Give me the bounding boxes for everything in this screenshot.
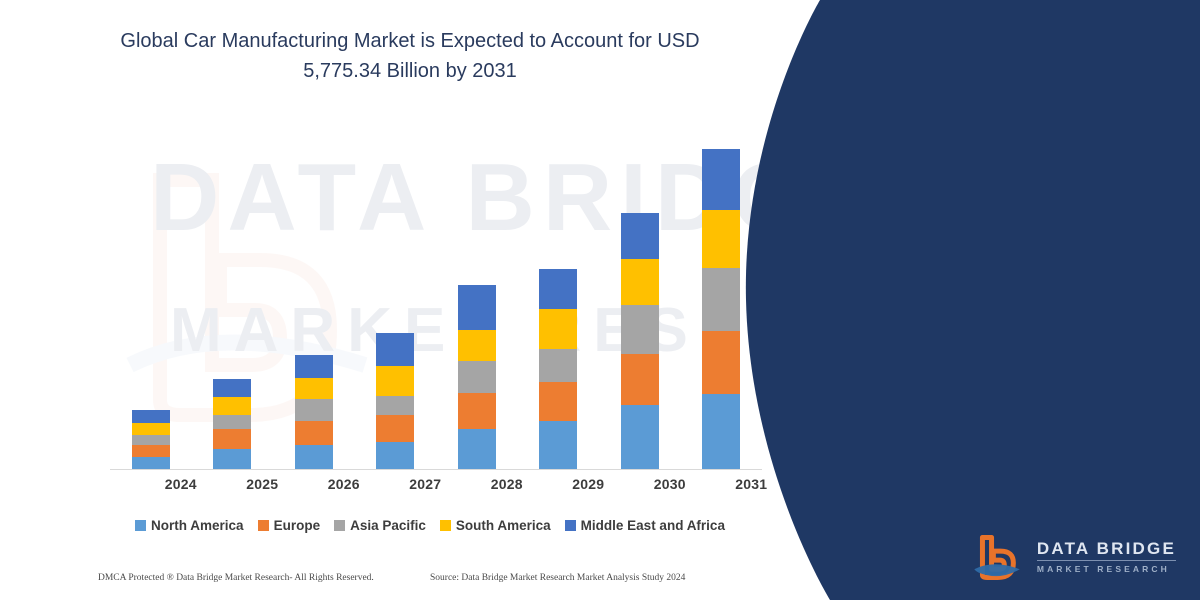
logo-line2: MARKET RESEARCH	[1037, 561, 1176, 574]
bar-segment	[213, 379, 251, 397]
bar-segment	[213, 415, 251, 428]
infographic-canvas: DATA BRIDGE MARKET RESEARCH Global Car M…	[0, 0, 1200, 600]
bar-segment	[295, 445, 333, 469]
bar-2025	[213, 379, 251, 469]
bar-segment	[458, 330, 496, 361]
x-axis-label: 2024	[162, 476, 200, 500]
bar-segment	[376, 366, 414, 397]
bar-segment	[539, 349, 577, 382]
x-axis-label: 2026	[325, 476, 363, 500]
bar-segment	[458, 285, 496, 330]
bar-segment	[702, 149, 740, 210]
bar-segment	[458, 429, 496, 469]
legend-swatch-icon	[135, 520, 146, 531]
chart-legend: North AmericaEuropeAsia PacificSouth Ame…	[80, 513, 780, 537]
bar-segment	[132, 435, 170, 445]
bar-segment	[702, 268, 740, 332]
bar-segment	[132, 410, 170, 422]
bar-segment	[702, 331, 740, 394]
bar-2024	[132, 410, 170, 469]
bar-segment	[376, 442, 414, 469]
bar-segment	[621, 305, 659, 355]
legend-item[interactable]: North America	[135, 518, 244, 533]
logo-text: DATA BRIDGE MARKET RESEARCH	[1037, 540, 1176, 574]
legend-label: North America	[151, 518, 244, 533]
bar-2027	[376, 333, 414, 469]
bar-segment	[295, 421, 333, 445]
x-axis-labels: 20242025202620272028202920302031	[110, 476, 810, 500]
bar-segment	[539, 421, 577, 469]
bar-segment	[376, 333, 414, 366]
legend-item[interactable]: Middle East and Africa	[565, 518, 725, 533]
bar-2031	[702, 149, 740, 469]
bar-2030	[621, 213, 659, 469]
bar-segment	[213, 397, 251, 415]
bar-2026	[295, 355, 333, 469]
bar-segment	[295, 355, 333, 378]
legend-swatch-icon	[258, 520, 269, 531]
bar-segment	[621, 405, 659, 469]
bar-segment	[376, 396, 414, 414]
bar-segment	[539, 309, 577, 349]
legend-label: Asia Pacific	[350, 518, 426, 533]
x-axis-label: 2030	[651, 476, 689, 500]
bar-2029	[539, 269, 577, 469]
bar-segment	[458, 393, 496, 428]
footer-source: Source: Data Bridge Market Research Mark…	[430, 573, 685, 583]
bar-segment	[295, 378, 333, 399]
legend-label: Europe	[274, 518, 321, 533]
legend-item[interactable]: Europe	[258, 518, 321, 533]
bar-segment	[621, 259, 659, 304]
bar-segment	[376, 415, 414, 442]
right-panel	[740, 0, 1200, 600]
bar-segment	[132, 457, 170, 469]
chart-title: Global Car Manufacturing Market is Expec…	[80, 26, 740, 86]
x-axis-label: 2027	[406, 476, 444, 500]
footer-copyright: DMCA Protected ® Data Bridge Market Rese…	[98, 573, 374, 583]
data-bridge-logo-icon	[969, 532, 1025, 582]
x-axis-label: 2031	[732, 476, 770, 500]
legend-label: South America	[456, 518, 551, 533]
bar-segment	[213, 429, 251, 450]
bar-segment	[621, 213, 659, 259]
bar-group	[110, 140, 762, 469]
x-axis-label: 2029	[569, 476, 607, 500]
bar-segment	[213, 449, 251, 469]
legend-item[interactable]: South America	[440, 518, 551, 533]
bar-2028	[458, 285, 496, 469]
legend-item[interactable]: Asia Pacific	[334, 518, 426, 533]
bar-segment	[458, 361, 496, 393]
x-axis-label: 2025	[243, 476, 281, 500]
legend-swatch-icon	[334, 520, 345, 531]
legend-swatch-icon	[440, 520, 451, 531]
x-axis-line	[110, 469, 762, 470]
bar-segment	[539, 382, 577, 422]
bar-segment	[295, 399, 333, 421]
logo-line1: DATA BRIDGE	[1037, 540, 1176, 561]
legend-swatch-icon	[565, 520, 576, 531]
bar-segment	[621, 354, 659, 405]
bar-segment	[132, 445, 170, 457]
bar-segment	[702, 394, 740, 469]
data-bridge-logo: DATA BRIDGE MARKET RESEARCH	[969, 532, 1176, 582]
bar-segment	[132, 423, 170, 435]
legend-label: Middle East and Africa	[581, 518, 725, 533]
footer: DMCA Protected ® Data Bridge Market Rese…	[0, 568, 800, 588]
bar-segment	[702, 210, 740, 268]
x-axis-label: 2028	[488, 476, 526, 500]
stacked-bar-chart	[80, 140, 780, 470]
bar-segment	[539, 269, 577, 309]
